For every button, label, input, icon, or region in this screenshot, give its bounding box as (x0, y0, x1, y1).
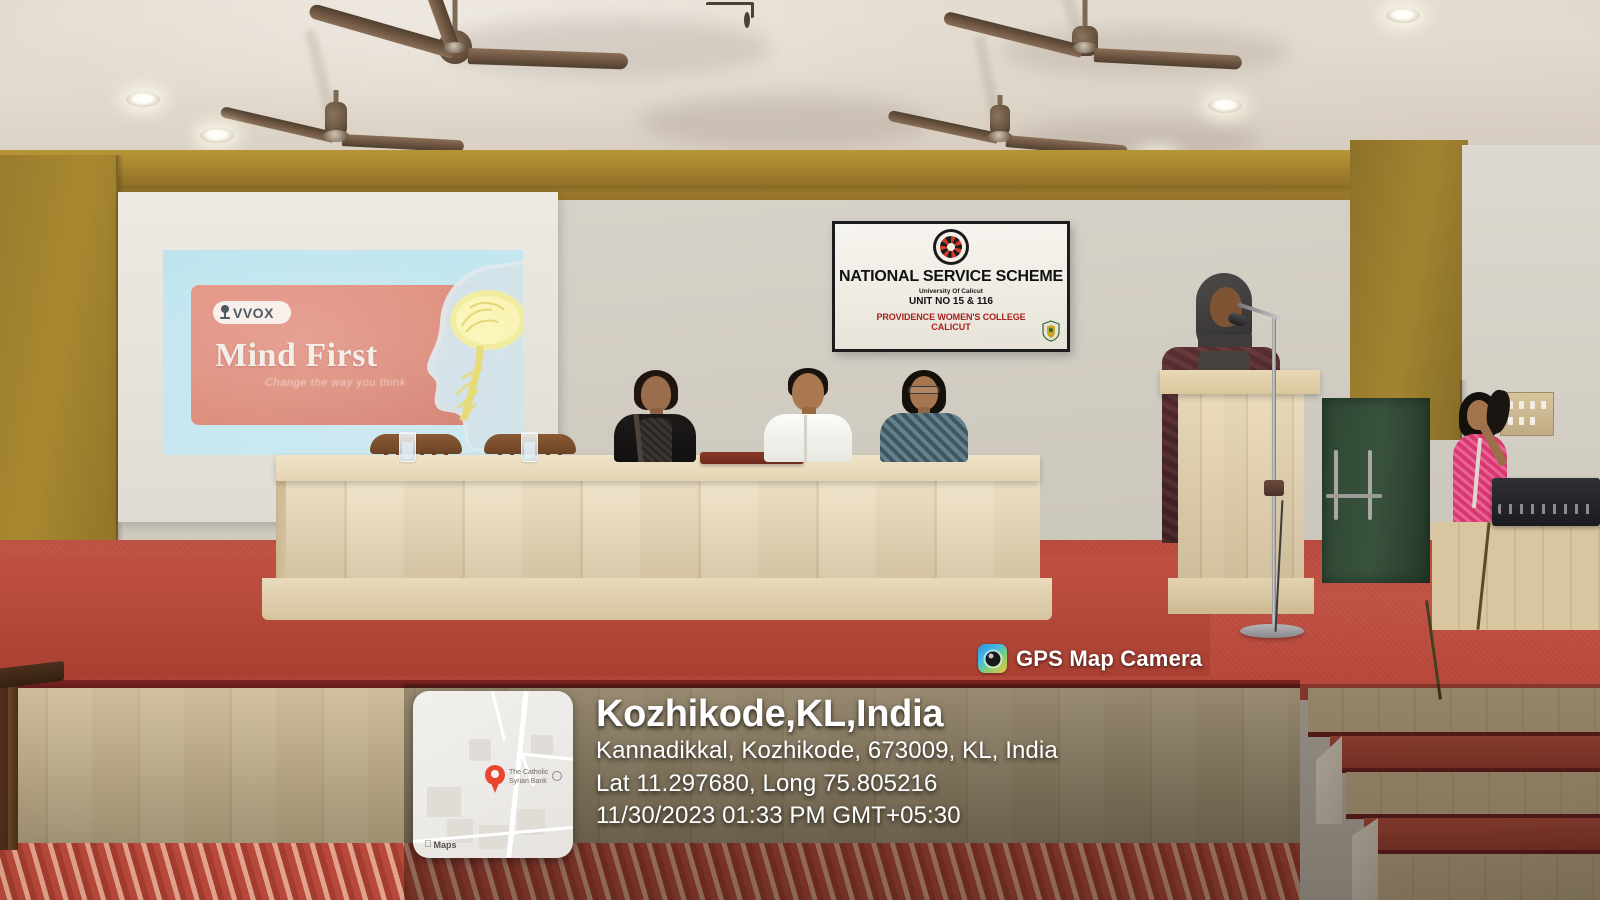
map-attribution-label: Maps (434, 840, 457, 850)
nss-wheel-logo (933, 229, 969, 265)
banner-college: PROVIDENCE WOMEN'S COLLEGE (876, 312, 1025, 322)
podium-body (1178, 392, 1304, 588)
gps-datetime-line: 11/30/2023 01:33 PM GMT+05:30 (596, 800, 1058, 833)
map-poi-label: The Catholic Syrian Bank (509, 769, 548, 787)
map-attribution:  Maps (424, 840, 457, 850)
seated-panelist (760, 368, 856, 462)
apple-logo-icon:  (424, 840, 432, 850)
seated-panelist (878, 370, 970, 462)
map-poi-marker (552, 771, 562, 781)
banner-university: University Of Calicut (919, 288, 983, 295)
water-glass (521, 432, 538, 462)
podium-top (1160, 370, 1320, 394)
dais-front-panel (286, 478, 1040, 590)
side-door[interactable] (1322, 398, 1430, 583)
ceiling-fan (240, 0, 540, 90)
gps-map-camera-photo: VVOX Mind First Change the way you think… (0, 0, 1600, 900)
projected-slide: VVOX Mind First Change the way you think (163, 250, 523, 455)
water-glass (399, 432, 416, 462)
fan-shadow (640, 96, 930, 148)
gps-watermark-label: GPS Map Camera (1016, 646, 1202, 672)
av-console-desk (1432, 522, 1600, 630)
wall-beam (95, 160, 1375, 186)
dais-plinth (262, 578, 1052, 620)
screen-glare (163, 250, 523, 455)
ceiling-downlight (1386, 8, 1420, 23)
gps-address-line: Kannadikkal, Kozhikode, 673009, KL, Indi… (596, 735, 1058, 768)
ceiling-downlight (1208, 98, 1242, 113)
ceiling-downlight (126, 92, 160, 107)
banner-city: CALICUT (931, 322, 971, 332)
ceiling-fan (960, 0, 1260, 90)
ceiling-downlight (200, 128, 234, 143)
microphone-clutch (1264, 480, 1284, 496)
gps-camera-icon (978, 644, 1007, 673)
gps-watermark: GPS Map Camera (971, 641, 1209, 676)
banner-title: NATIONAL SERVICE SCHEME (839, 268, 1063, 286)
seated-panelist (612, 370, 698, 462)
college-crest (1041, 320, 1061, 342)
podium-base (1168, 578, 1314, 614)
map-thumbnail[interactable]: The Catholic Syrian Bank  Maps (413, 691, 573, 858)
banner-unit: UNIT NO 15 & 116 (909, 296, 993, 307)
map-pin-icon (485, 765, 505, 793)
microphone-base (1240, 624, 1304, 638)
audio-mixer[interactable] (1492, 478, 1600, 526)
ceiling-bracket-bolt (744, 12, 750, 28)
gps-coordinates-line: Lat 11.297680, Long 75.805216 (596, 768, 1058, 801)
side-table-leg (8, 680, 18, 850)
microphone-stand (1272, 318, 1276, 630)
nss-banner: NATIONAL SERVICE SCHEME University Of Ca… (832, 221, 1070, 352)
gps-info-block: Kozhikode,KL,India Kannadikkal, Kozhikod… (596, 694, 1058, 833)
gps-city-line: Kozhikode,KL,India (596, 694, 1058, 735)
